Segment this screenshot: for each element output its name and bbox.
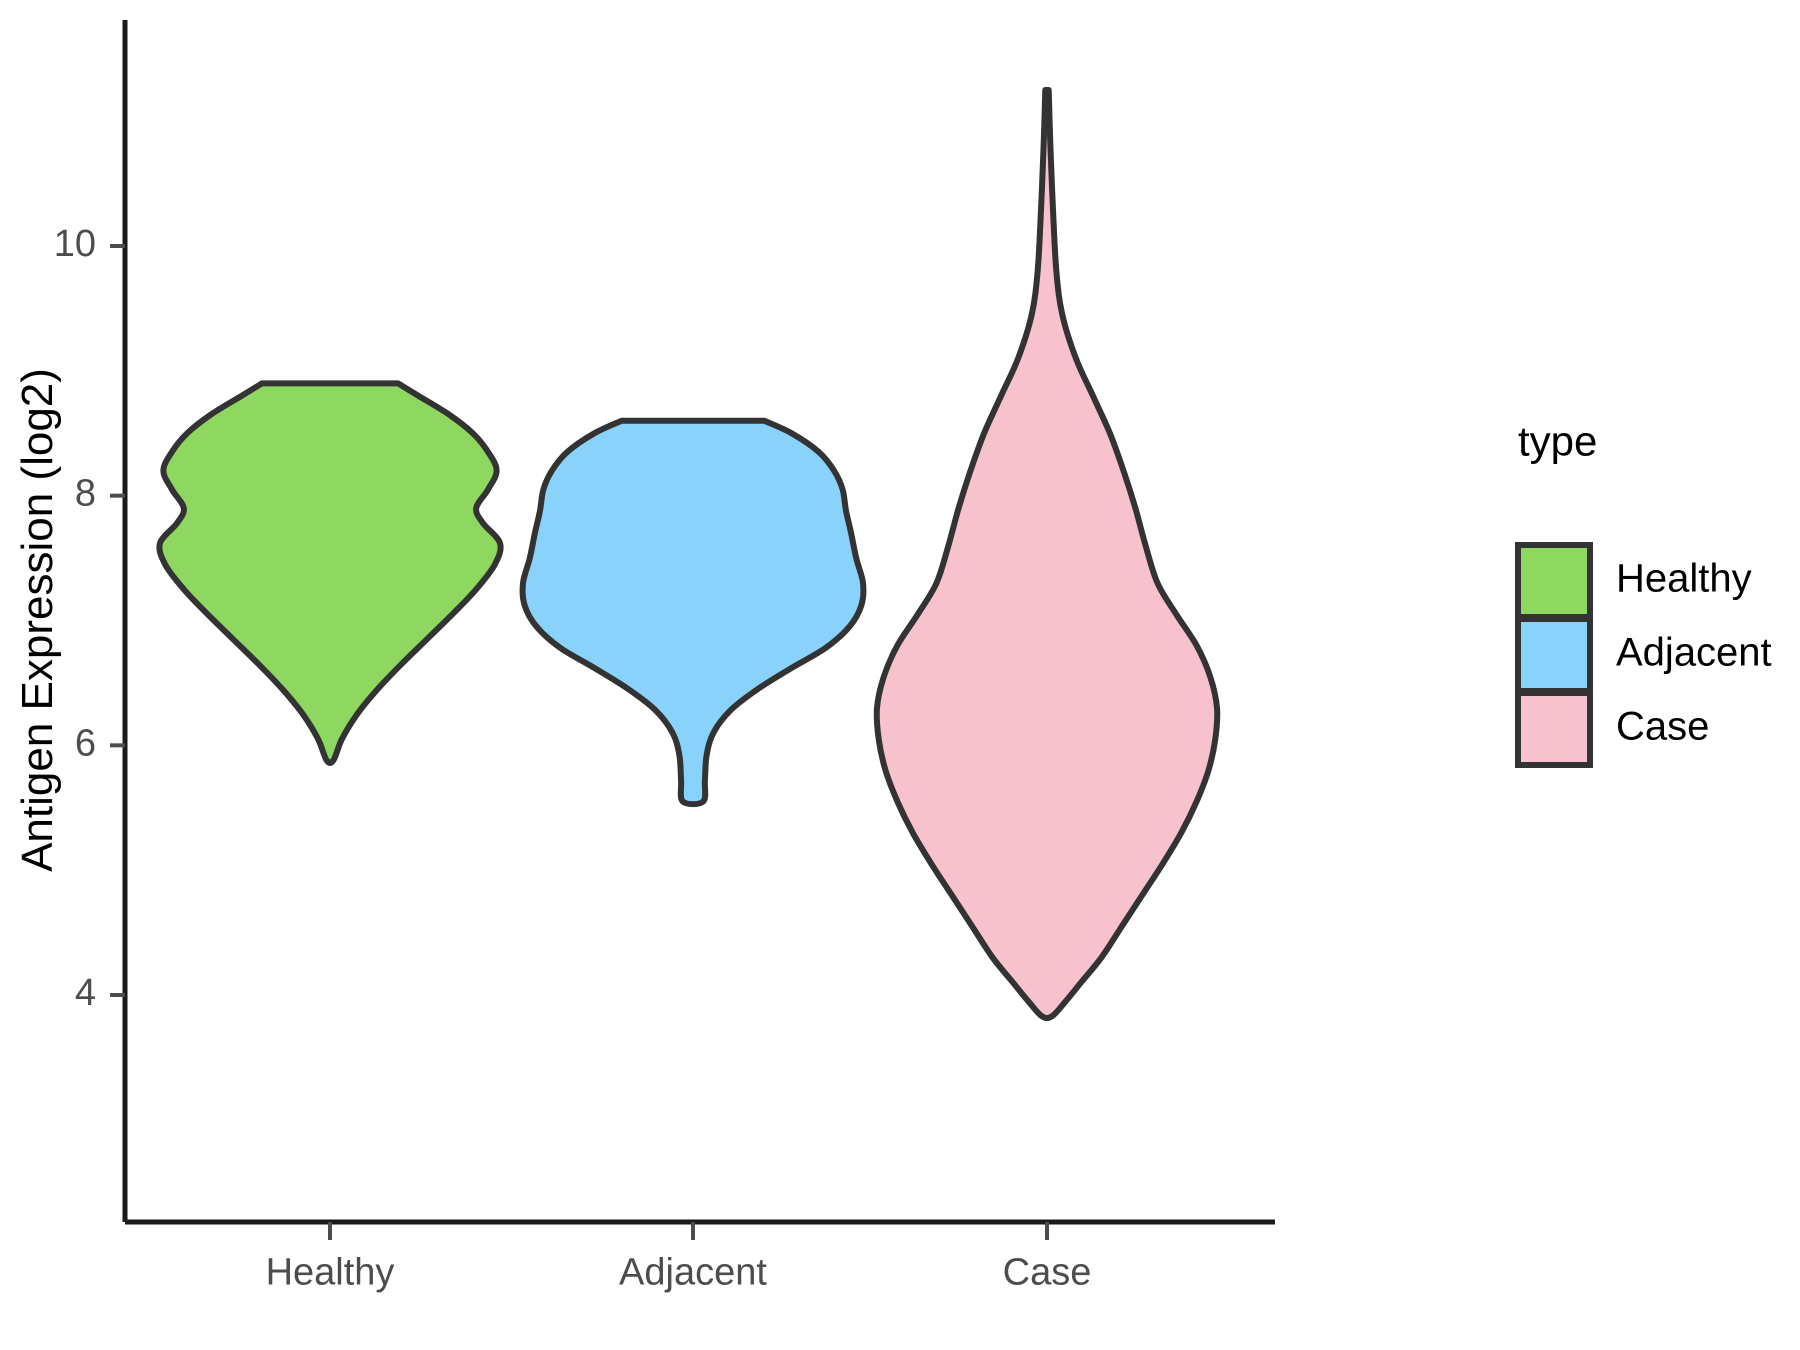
legend-label-case: Case xyxy=(1616,705,1709,749)
y-tick-label: 10 xyxy=(54,223,96,265)
violin-plot-figure: 46810 HealthyAdjacentCase Antigen Expres… xyxy=(0,0,1800,1350)
legend-title: type xyxy=(1518,417,1597,464)
x-tick-label: Adjacent xyxy=(619,1251,767,1293)
plot-canvas: 46810 HealthyAdjacentCase Antigen Expres… xyxy=(0,0,1800,1350)
x-tick-label: Case xyxy=(1003,1251,1092,1293)
y-tick-label: 6 xyxy=(75,722,96,764)
legend-swatch-adjacent[interactable] xyxy=(1518,619,1590,691)
x-tick-label: Healthy xyxy=(266,1251,395,1293)
y-axis-title: Antigen Expression (log2) xyxy=(13,368,62,872)
y-tick-label: 8 xyxy=(75,473,96,515)
legend-label-adjacent: Adjacent xyxy=(1616,631,1772,675)
legend-label-healthy: Healthy xyxy=(1616,557,1752,601)
legend-swatch-case[interactable] xyxy=(1518,693,1590,765)
legend-swatch-healthy[interactable] xyxy=(1518,545,1590,617)
y-tick-label: 4 xyxy=(75,972,96,1014)
